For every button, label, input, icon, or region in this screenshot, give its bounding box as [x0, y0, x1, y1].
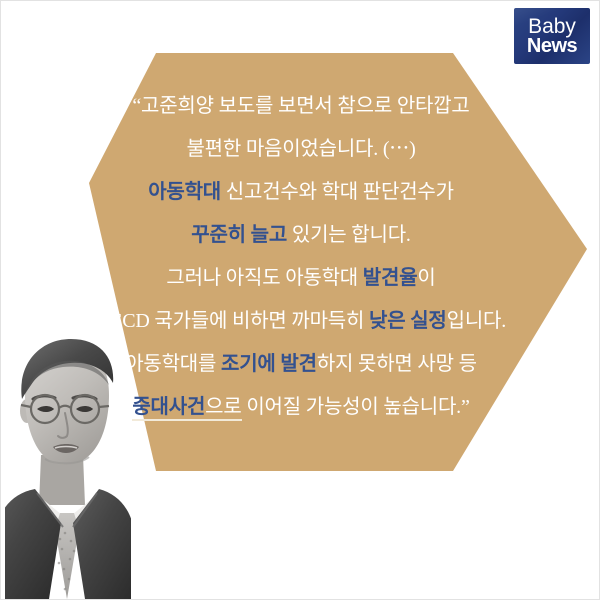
- news-card: Baby News “고준희양 보도를 보면서 참으로 안타깝고 불편한 마음이…: [0, 0, 600, 600]
- logo-text-news: News: [527, 36, 577, 56]
- hexagon-polygon: [89, 53, 587, 471]
- portrait-photo: [5, 337, 131, 599]
- babynews-logo: Baby News: [514, 8, 590, 64]
- logo-text-baby: Baby: [528, 17, 576, 36]
